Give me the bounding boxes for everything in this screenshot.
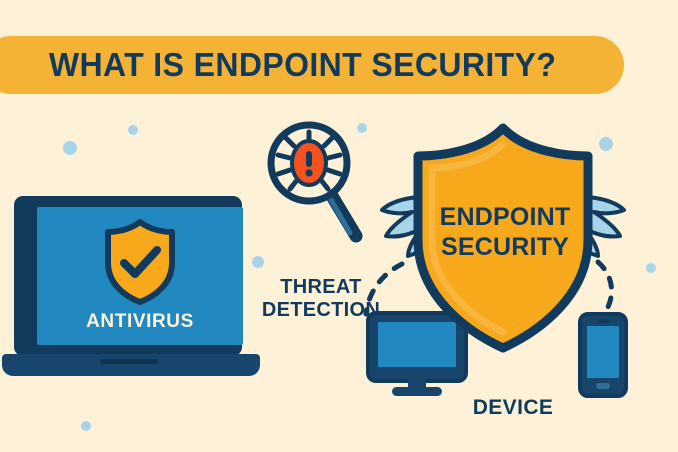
endpoint-security-label: ENDPOINT SECURITY xyxy=(420,202,590,262)
device-label: DEVICE xyxy=(438,396,588,420)
magnifier-icon xyxy=(264,118,368,246)
antivirus-label: ANTIVIRUS xyxy=(86,311,194,333)
laptop-screen: ANTIVIRUS xyxy=(37,207,243,345)
laptop-icon: ANTIVIRUS xyxy=(2,196,268,396)
endpoint-label-line2: SECURITY xyxy=(420,232,590,262)
decorative-dot xyxy=(81,421,91,431)
laptop-lid: ANTIVIRUS xyxy=(14,196,242,356)
shield-check-icon xyxy=(102,219,178,305)
threat-detection-group: THREAT DETECTION xyxy=(256,118,386,338)
laptop-base xyxy=(2,354,260,376)
decorative-dot xyxy=(646,263,656,273)
page-title: WHAT IS ENDPOINT SECURITY? xyxy=(49,46,556,84)
title-banner: WHAT IS ENDPOINT SECURITY? xyxy=(0,36,624,94)
infographic-canvas: WHAT IS ENDPOINT SECURITY? ANTIVIRUS xyxy=(0,0,678,452)
endpoint-label-line1: ENDPOINT xyxy=(420,202,590,232)
laptop-trackpad xyxy=(100,359,158,364)
endpoint-security-group: ENDPOINT SECURITY xyxy=(372,122,634,354)
decorative-dot xyxy=(128,125,138,135)
decorative-dot xyxy=(63,141,77,155)
